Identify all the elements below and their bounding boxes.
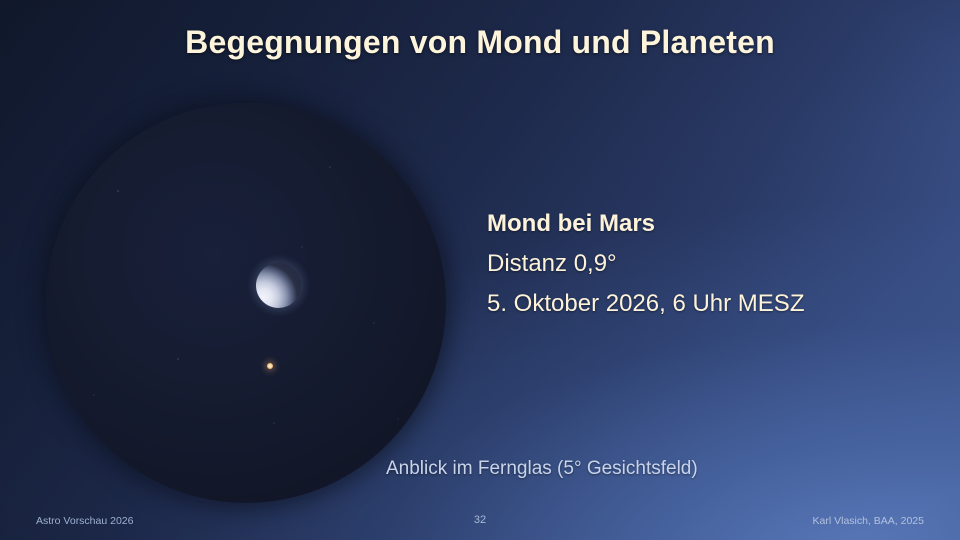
footer-right-label: Karl Vlasich, BAA, 2025 <box>813 515 924 527</box>
event-info-block: Mond bei Mars Distanz 0,9° 5. Oktober 20… <box>487 210 917 318</box>
binocular-field-of-view <box>46 103 446 503</box>
event-datetime: 5. Oktober 2026, 6 Uhr MESZ <box>487 290 917 318</box>
mars-object <box>267 363 273 369</box>
event-distance: Distanz 0,9° <box>487 250 917 278</box>
field-of-view-caption: Anblick im Fernglas (5° Gesichtsfeld) <box>386 458 698 480</box>
moon-crescent-icon <box>256 263 301 308</box>
page-title: Begegnungen von Mond und Planeten <box>0 24 960 61</box>
slide-canvas: Begegnungen von Mond und Planeten Mond b… <box>0 0 960 540</box>
starfield-background <box>46 103 446 503</box>
moon-object <box>256 263 301 308</box>
event-heading: Mond bei Mars <box>487 210 917 238</box>
